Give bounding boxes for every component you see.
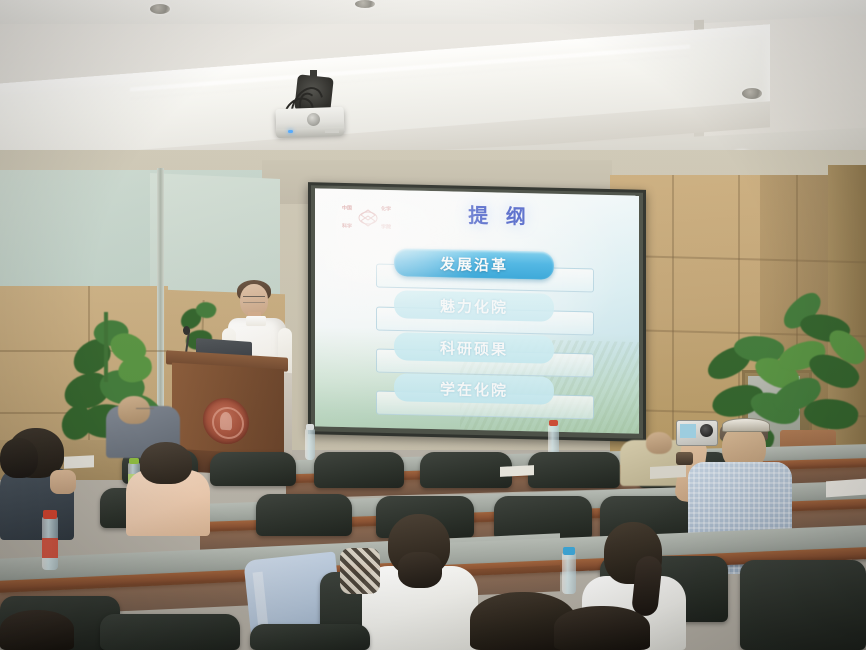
chair[interactable] — [210, 452, 296, 486]
chair[interactable] — [420, 452, 512, 488]
audience-head — [646, 432, 672, 454]
bottle-cap-icon — [129, 458, 139, 464]
audience-head — [0, 438, 38, 478]
slide-bullet-4-label: 学在化院 — [440, 378, 508, 401]
downlight-icon — [742, 88, 762, 99]
eyeglasses-icon — [136, 408, 154, 413]
slide-bullet-4[interactable]: 学在化院 — [394, 373, 554, 405]
bottle-cap-icon — [549, 420, 558, 426]
slide-bullet-3-label: 科研硕果 — [440, 337, 508, 360]
chair[interactable] — [100, 614, 240, 650]
wristwatch-icon — [676, 452, 693, 465]
chair[interactable] — [250, 624, 370, 650]
chair[interactable] — [256, 494, 352, 536]
braided-hair — [398, 552, 442, 588]
audience-head-foreground — [554, 606, 650, 650]
camera-screen — [680, 424, 696, 438]
bottle-label — [42, 538, 58, 558]
water-bottle[interactable] — [562, 552, 576, 594]
microphone-icon — [183, 326, 190, 335]
projector-power-led-icon — [288, 130, 293, 133]
camera-lens-icon — [700, 424, 713, 437]
audience-head — [140, 442, 192, 484]
notebook — [650, 465, 686, 479]
paper-sheet — [64, 455, 94, 469]
university-seal-figure — [220, 412, 232, 431]
sunglasses-icon — [722, 418, 770, 432]
lecture-hall-photo: 中国 化学 科学 学院 提 纲 发展沿革 魅力化院 科研硕果 学在化院 — [0, 0, 866, 650]
audience-head-foreground — [0, 610, 74, 650]
audience-hand — [50, 470, 76, 494]
projector-vent-icon — [325, 129, 339, 133]
speaker-collar — [246, 316, 266, 326]
chair[interactable] — [740, 560, 866, 650]
patterned-garment — [340, 548, 380, 594]
slide-bullet-3[interactable]: 科研硕果 — [394, 332, 554, 364]
paper-sheet — [826, 479, 866, 498]
panel-seam — [672, 175, 674, 465]
bottle-cap-icon — [306, 424, 314, 430]
chair[interactable] — [528, 452, 620, 488]
downlight-icon — [150, 4, 170, 14]
water-bottle[interactable] — [305, 428, 315, 460]
eyeglasses-icon — [243, 296, 265, 303]
chair[interactable] — [314, 452, 404, 488]
paper-sheet — [500, 465, 534, 477]
bottle-cap-icon — [43, 510, 57, 519]
downlight-icon — [355, 0, 375, 8]
screen-hotspot-glare — [330, 194, 490, 308]
bottle-cap-icon — [563, 547, 575, 555]
